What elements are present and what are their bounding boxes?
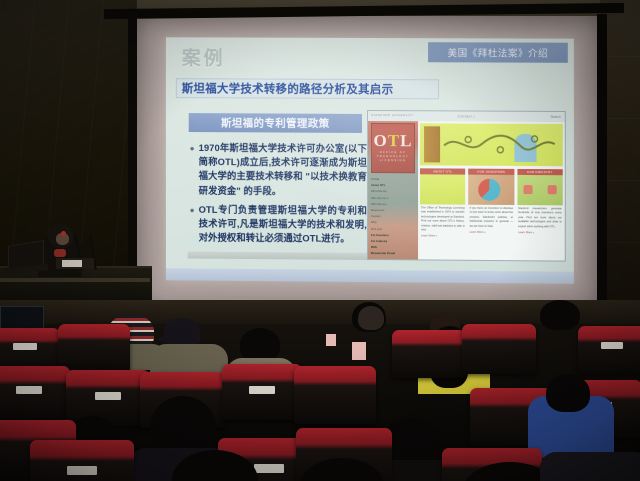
otl-logo-mark: OTL — [374, 133, 413, 149]
seat-number-tag — [601, 342, 623, 349]
slide-corner-tag-label: 美国《拜杜法案》介绍 — [448, 45, 549, 59]
pie-chart-icon — [479, 179, 501, 201]
otl-logo-subtitle: OFFICE OF TECHNOLOGY LICENSING — [377, 151, 409, 163]
podium-label-card — [62, 260, 82, 267]
slide-bullet-item: ● OTL专门负责管理斯坦福大学的专利和技术许可,凡是斯坦福大学的技术和发明,对… — [190, 203, 367, 247]
auditorium-seat — [294, 366, 376, 424]
card-image — [469, 175, 515, 205]
auditorium-seat — [578, 326, 640, 374]
card-body: Stanford researchers generate hundreds o… — [517, 205, 563, 229]
card-body: The Office of Technology Licensing was e… — [420, 204, 465, 233]
audience-head — [358, 306, 384, 330]
audience-shoulders — [150, 344, 228, 374]
card-learn-more-link: Learn More » — [517, 229, 563, 236]
website-sidebar: OTL OFFICE OF TECHNOLOGY LICENSING HOME … — [368, 121, 418, 259]
website-search-link: Search — [551, 114, 561, 118]
seat-number-tag — [13, 343, 37, 350]
seat-number-tag — [95, 392, 121, 400]
card-body: If you have an invention to disclose or … — [469, 205, 515, 229]
auditorium-seat — [30, 440, 134, 481]
website-card: ABOUT OTL The Office of Technology Licen… — [420, 168, 465, 240]
audience-head — [540, 300, 580, 330]
slide-corner-tag: 美国《拜杜法案》介绍 — [428, 42, 568, 63]
paper-sheet — [326, 334, 336, 346]
audience-head — [240, 328, 280, 362]
slide-divider — [188, 252, 373, 261]
slide-bullet-list: ● 1970年斯坦福大学技术许可办公室(以下简称OTL)成立后,技术许可逐渐成为… — [190, 141, 367, 251]
slide-kicker: 案例 — [182, 43, 226, 70]
door-icon — [424, 126, 440, 162]
slide-subtitle-bar: 斯坦福大学技术转移的路径分析及其启示 — [176, 78, 439, 99]
auditorium-seat — [462, 324, 536, 374]
website-screenshot-image: STANFORD UNIVERSITY Contact | Search OTL… — [367, 110, 566, 262]
microphone-indicator-light — [61, 231, 66, 236]
bullet-dot-icon: ● — [190, 145, 199, 198]
auditorium-seat — [0, 366, 70, 420]
puzzle-piece-icon — [548, 185, 557, 194]
website-topbar: STANFORD UNIVERSITY Contact | Search — [368, 111, 565, 122]
website-card-row: ABOUT OTL The Office of Technology Licen… — [420, 168, 563, 241]
auditorium-seat — [222, 364, 302, 420]
seat-number-tag — [254, 464, 284, 473]
website-card: FOR INDUSTRY Stanford researchers genera… — [517, 169, 563, 241]
sidebar-item-researcher-portal: Researcher Portal — [371, 250, 415, 257]
card-learn-more-link: Learn More » — [420, 233, 465, 240]
otl-logo: OTL OFFICE OF TECHNOLOGY LICENSING — [371, 123, 415, 173]
audience-cap-hat — [164, 318, 200, 344]
website-nav-contact: Contact | — [458, 114, 475, 118]
otl-logo-subtitle-line3: LICENSING — [377, 159, 409, 163]
stage-rail — [0, 278, 150, 282]
audience-head — [546, 374, 590, 412]
seat-number-tag — [16, 386, 42, 394]
auditorium-seat — [66, 370, 150, 426]
screen-right-post — [597, 14, 607, 309]
vine-icon — [442, 131, 563, 158]
presentation-slide: 案例 美国《拜杜法案》介绍 斯坦福大学技术转移的路径分析及其启示 斯坦福的专利管… — [166, 37, 574, 283]
slide-bullet-text: 1970年斯坦福大学技术许可办公室(以下简称OTL)成立后,技术许可逐渐成为斯坦… — [199, 141, 367, 199]
card-image — [420, 174, 465, 204]
card-image — [517, 175, 563, 205]
audience-shoulders — [540, 452, 640, 481]
slide-bullet-item: ● 1970年斯坦福大学技术许可办公室(以下简称OTL)成立后,技术许可逐渐成为… — [190, 141, 367, 199]
slide-bullet-text: OTL专门负责管理斯坦福大学的专利和技术许可,凡是斯坦福大学的技术和发明,对外授… — [199, 203, 367, 247]
lecture-hall-photo: 案例 美国《拜杜法案》介绍 斯坦福大学技术转移的路径分析及其启示 斯坦福的专利管… — [0, 0, 640, 481]
slide-section-header-bar: 斯坦福的专利管理政策 — [189, 113, 362, 133]
website-hero-banner — [420, 123, 563, 166]
seat-number-tag — [249, 386, 275, 394]
puzzle-piece-icon — [523, 185, 532, 194]
slide-subtitle: 斯坦福大学技术转移的路径分析及其启示 — [182, 80, 394, 97]
paper-sheet — [352, 342, 366, 360]
auditorium-seat — [58, 324, 130, 372]
seat-number-tag — [67, 466, 97, 475]
website-card: FOR INVENTORS If you have an invention t… — [469, 169, 515, 241]
audience-area — [0, 300, 640, 481]
bullet-dot-icon: ● — [190, 207, 199, 246]
slide-section-header: 斯坦福的专利管理政策 — [221, 115, 330, 131]
auditorium-seat — [392, 330, 466, 378]
card-learn-more-link: Learn More » — [469, 229, 515, 236]
presenter-collar — [54, 249, 66, 257]
website-university-label: STANFORD UNIVERSITY — [371, 113, 414, 117]
website-main-content: ABOUT OTL The Office of Technology Licen… — [418, 121, 565, 260]
website-body: OTL OFFICE OF TECHNOLOGY LICENSING HOME … — [368, 121, 565, 261]
